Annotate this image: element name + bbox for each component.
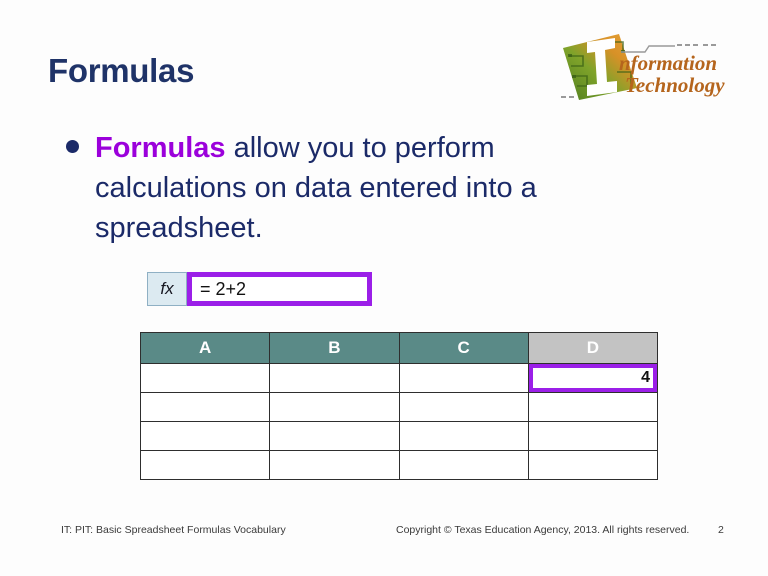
- column-header-row: A B C D: [141, 333, 658, 364]
- column-header-a[interactable]: A: [141, 333, 270, 364]
- cell-d2[interactable]: [528, 393, 657, 422]
- logo-line2-text: Technology: [625, 73, 725, 97]
- bullet-keyword: Formulas: [95, 132, 226, 164]
- cell-d1[interactable]: 4: [528, 364, 657, 393]
- information-technology-logo: nformation Technology: [557, 26, 737, 110]
- cell-a2[interactable]: [141, 393, 270, 422]
- column-header-b[interactable]: B: [270, 333, 399, 364]
- bullet-item: Formulas allow you to perform calculatio…: [66, 128, 666, 248]
- cell-c3[interactable]: [399, 422, 528, 451]
- cell-a3[interactable]: [141, 422, 270, 451]
- bullet-text: Formulas allow you to perform calculatio…: [95, 128, 615, 248]
- cell-b4[interactable]: [270, 451, 399, 480]
- cell-a4[interactable]: [141, 451, 270, 480]
- cell-a1[interactable]: [141, 364, 270, 393]
- page-title: Formulas: [48, 52, 194, 90]
- table-row: [141, 393, 658, 422]
- spreadsheet-table: A B C D 4: [140, 332, 658, 480]
- table-row: [141, 422, 658, 451]
- fx-icon[interactable]: fx: [147, 272, 187, 306]
- footer: IT: PIT: Basic Spreadsheet Formulas Voca…: [0, 524, 768, 544]
- cell-b3[interactable]: [270, 422, 399, 451]
- footer-copyright: Copyright © Texas Education Agency, 2013…: [396, 524, 689, 536]
- cell-c4[interactable]: [399, 451, 528, 480]
- footer-course-label: IT: PIT: Basic Spreadsheet Formulas Voca…: [61, 524, 286, 536]
- table-row: 4: [141, 364, 658, 393]
- cell-d3[interactable]: [528, 422, 657, 451]
- column-header-c[interactable]: C: [399, 333, 528, 364]
- column-header-d[interactable]: D: [528, 333, 657, 364]
- footer-page-number: 2: [718, 524, 724, 536]
- cell-b1[interactable]: [270, 364, 399, 393]
- slide: Formulas: [0, 0, 768, 576]
- logo-line1-text: nformation: [619, 51, 717, 75]
- cell-c2[interactable]: [399, 393, 528, 422]
- cell-b2[interactable]: [270, 393, 399, 422]
- table-row: [141, 451, 658, 480]
- formula-input[interactable]: = 2+2: [187, 272, 372, 306]
- cell-c1[interactable]: [399, 364, 528, 393]
- bullet-dot-icon: [66, 140, 79, 153]
- formula-bar: fx = 2+2: [147, 272, 372, 306]
- cell-d4[interactable]: [528, 451, 657, 480]
- logo-graphic: nformation Technology: [557, 26, 737, 110]
